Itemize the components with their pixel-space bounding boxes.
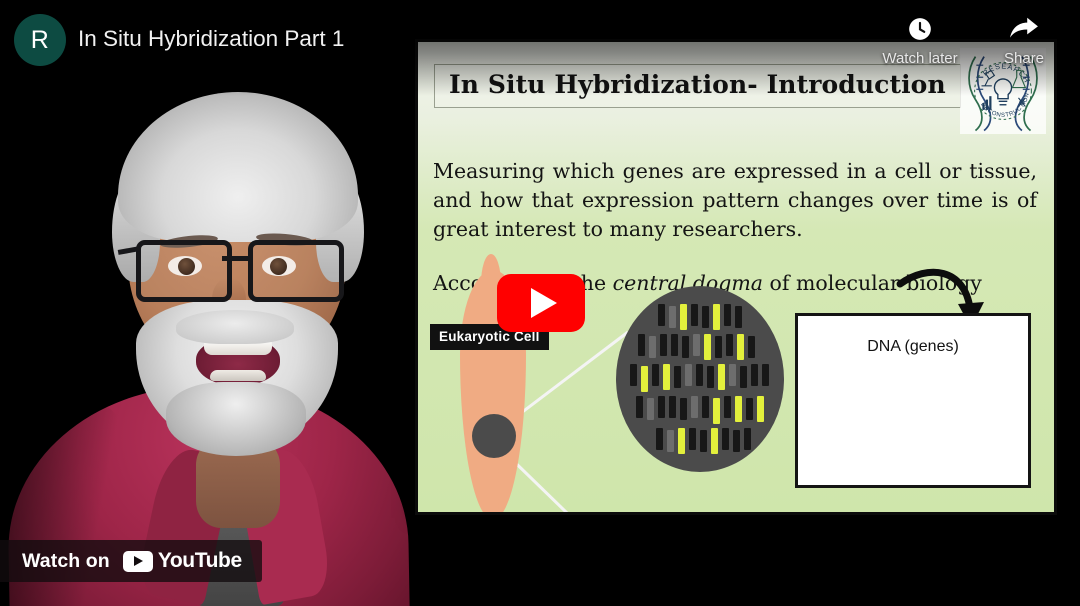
gene-expression-bar	[663, 364, 670, 390]
channel-avatar[interactable]: R	[14, 14, 66, 66]
gene-expression-bar	[682, 336, 689, 358]
gene-expression-bar	[718, 364, 725, 390]
gene-expression-bar	[700, 430, 707, 452]
watch-on-youtube-button[interactable]: Watch on YouTube	[0, 540, 262, 582]
gene-expression-bar	[669, 306, 676, 328]
gene-expression-bar	[671, 334, 678, 356]
play-triangle-icon	[531, 288, 557, 318]
gene-expression-bar	[713, 304, 720, 330]
dna-genes-label: DNA (genes)	[798, 338, 1028, 356]
share-label: Share	[1004, 50, 1044, 67]
youtube-play-icon	[123, 551, 153, 572]
gene-expression-bar	[722, 428, 729, 450]
gene-expression-bar	[746, 398, 753, 420]
gene-expression-bar	[762, 364, 769, 386]
presenter-chin-beard	[166, 382, 306, 456]
slide-title-box: In Situ Hybridization- Introduction	[434, 64, 961, 108]
gene-expression-bar	[724, 304, 731, 326]
gene-expression-bar	[702, 396, 709, 418]
slide-title: In Situ Hybridization- Introduction	[449, 70, 946, 99]
presenter-hair	[118, 92, 358, 242]
channel-avatar-initial: R	[31, 26, 49, 55]
gene-expression-bar	[678, 428, 685, 454]
presenter-mustache	[176, 310, 294, 344]
gene-expression-bar	[636, 396, 643, 418]
gene-expression-bar	[658, 304, 665, 326]
youtube-logo: YouTube	[123, 549, 242, 573]
gene-expression-bar	[691, 396, 698, 418]
gene-expression-bar	[656, 428, 663, 450]
presenter-teeth-lower	[210, 370, 266, 381]
watch-on-label: Watch on	[22, 550, 110, 573]
gene-expression-bar	[685, 364, 692, 386]
gene-expression-bar	[667, 430, 674, 452]
dna-genes-box: DNA (genes)	[795, 313, 1031, 488]
gene-expression-bar	[691, 304, 698, 326]
gene-expression-bar	[748, 336, 755, 358]
gene-expression-bar	[713, 398, 720, 424]
magnified-gene-expression-circle	[616, 286, 784, 472]
share-arrow-icon	[1009, 14, 1039, 44]
gene-expression-bar	[680, 398, 687, 420]
youtube-wordmark: YouTube	[158, 549, 242, 573]
gene-expression-bar	[674, 366, 681, 388]
gene-expression-bar	[647, 398, 654, 420]
gene-expression-bar	[744, 428, 751, 450]
gene-expression-bar	[740, 366, 747, 388]
gene-expression-bar	[693, 334, 700, 356]
share-button[interactable]: Share	[976, 14, 1072, 67]
play-button[interactable]	[497, 274, 585, 332]
gene-expression-bar	[711, 428, 718, 454]
eyeglass-lens-left	[136, 240, 232, 302]
slide-paragraph-1: Measuring which genes are expressed in a…	[433, 157, 1037, 244]
gene-expression-bar	[726, 334, 733, 356]
gene-expression-bar	[669, 396, 676, 418]
gene-expression-bar	[702, 306, 709, 328]
gene-expression-bar	[638, 334, 645, 356]
gene-expression-bar	[724, 396, 731, 418]
gene-expression-bar	[704, 334, 711, 360]
gene-expression-bar	[751, 364, 758, 386]
presenter-video-figure	[0, 0, 430, 606]
gene-expression-bar	[658, 396, 665, 418]
watch-later-label: Watch later	[882, 50, 957, 67]
gene-expression-bar	[641, 366, 648, 392]
gene-expression-bar	[707, 366, 714, 388]
gene-expression-bar	[689, 428, 696, 450]
watch-later-button[interactable]: Watch later	[872, 14, 968, 67]
gene-expression-bar	[715, 336, 722, 358]
youtube-player[interactable]: In Situ Hybridization- Introduction	[0, 0, 1080, 606]
gene-expression-bar	[735, 306, 742, 328]
gene-expression-bar	[630, 364, 637, 386]
gene-expression-bar	[649, 336, 656, 358]
video-title[interactable]: In Situ Hybridization Part 1	[78, 26, 344, 52]
gene-expression-bar	[733, 430, 740, 452]
eyeglass-bridge	[222, 256, 248, 261]
gene-expression-bar	[696, 364, 703, 386]
cell-nucleus	[472, 414, 516, 458]
gene-expression-bar	[735, 396, 742, 422]
eyeglass-lens-right	[248, 240, 344, 302]
presenter-eyeglasses	[136, 240, 342, 302]
gene-expression-bar	[660, 334, 667, 356]
gene-expression-bar	[737, 334, 744, 360]
gene-expression-bar	[729, 364, 736, 386]
clock-icon	[907, 14, 933, 44]
gene-expression-bar	[652, 364, 659, 386]
gene-expression-bar	[680, 304, 687, 330]
cell-process-bottom	[483, 460, 499, 512]
gene-expression-bar	[757, 396, 764, 422]
